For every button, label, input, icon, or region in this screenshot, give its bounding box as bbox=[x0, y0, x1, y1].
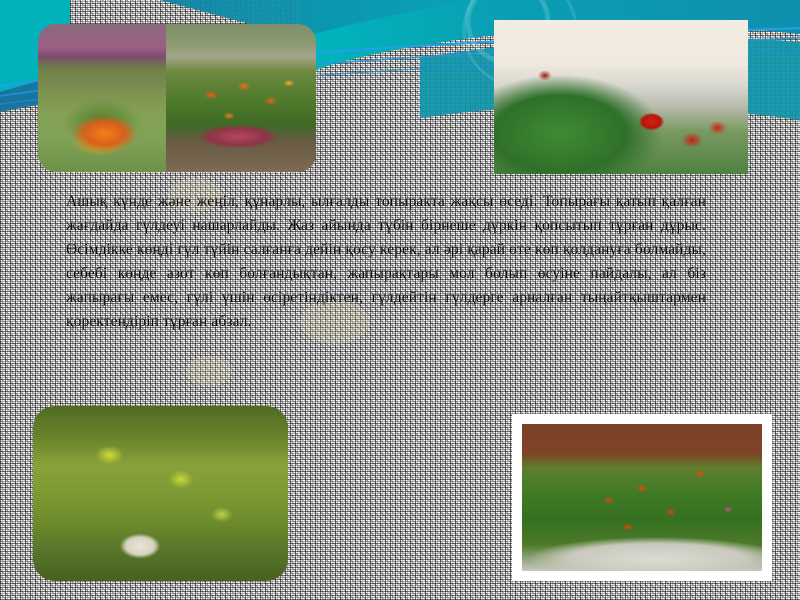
photo-balcony-city bbox=[494, 20, 748, 174]
photo-flowerbed-lawn bbox=[38, 24, 166, 172]
slide-body-text: Ашық күнде және жеңіл, құнарлы, ылғалды … bbox=[66, 190, 706, 334]
photo-green-garden bbox=[33, 406, 288, 581]
photo-tyre-planter bbox=[166, 24, 316, 172]
photo-fence-bed bbox=[512, 414, 772, 581]
photo-fence-bed-image bbox=[522, 424, 762, 571]
presentation-slide: Ашық күнде және жеңіл, құнарлы, ылғалды … bbox=[0, 0, 800, 600]
body-paragraph: Ашық күнде және жеңіл, құнарлы, ылғалды … bbox=[66, 190, 706, 334]
